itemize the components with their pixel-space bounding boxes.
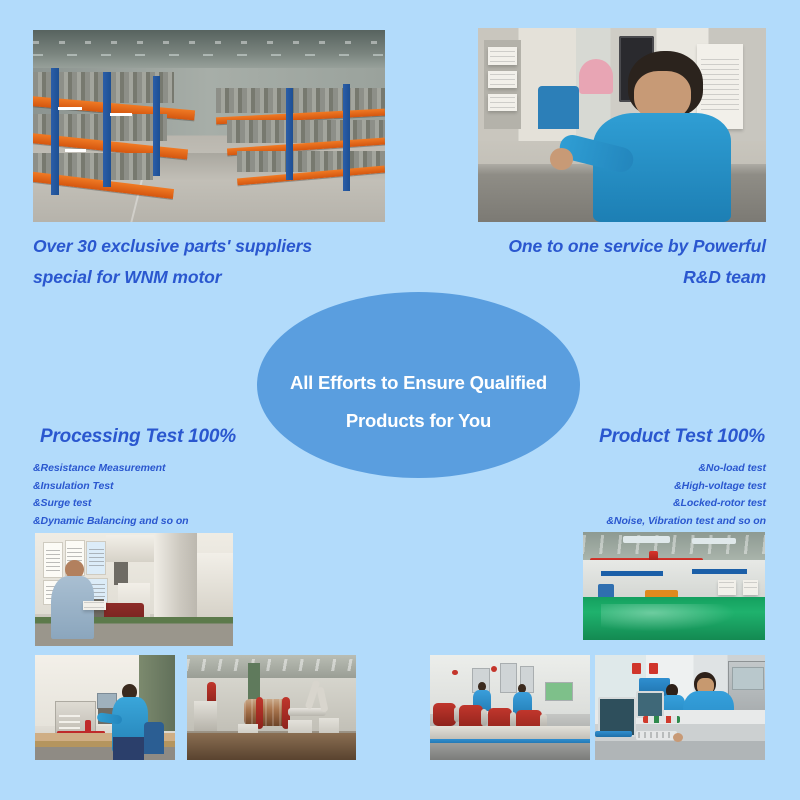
list-item: &No-load test: [606, 460, 766, 478]
roof-structure: [583, 532, 765, 560]
console-edge: [595, 731, 632, 737]
motor-under-test: [433, 703, 455, 726]
rack-post: [153, 76, 160, 176]
balancing-scene: [187, 655, 356, 760]
cmm-gantry: [106, 535, 154, 562]
list-item: &Dynamic Balancing and so on: [33, 513, 189, 531]
person-legs: [113, 737, 144, 760]
photo-engineer-at-computer: [478, 28, 766, 222]
rack-post: [286, 88, 292, 180]
floor-area: [187, 733, 356, 760]
rack-post: [51, 68, 59, 195]
roof-structure: [187, 655, 356, 678]
monitor-icon: [636, 691, 664, 718]
control-cabinet: [194, 701, 218, 730]
list-item: &Locked-rotor test: [606, 495, 766, 513]
green-bins: [545, 682, 573, 701]
wall-panel: [500, 663, 516, 692]
poster-canvas: Over 30 exclusive parts' suppliers speci…: [0, 0, 800, 800]
decoration: [579, 59, 614, 94]
office-scene: [478, 28, 766, 222]
stored-boxes: [216, 88, 385, 113]
list-item: &Insulation Test: [33, 478, 189, 496]
blue-banner: [692, 569, 747, 574]
keyboard-icon: [636, 731, 677, 740]
paper-stack: [488, 71, 517, 88]
warning-sign: [649, 663, 658, 674]
center-badge: All Efforts to Ensure Qualified Products…: [257, 292, 580, 478]
list-item: &Surge test: [33, 495, 189, 513]
warning-sign: [632, 663, 641, 674]
paper-stack: [488, 94, 517, 111]
cmm-probe: [114, 562, 128, 585]
bench-scene: [35, 655, 175, 760]
window-panel: [743, 580, 758, 595]
rack-post: [343, 84, 351, 192]
photo-green-floor-workshop: [583, 532, 765, 640]
photo-warehouse-parts-storage: [33, 30, 385, 222]
chair: [144, 722, 164, 754]
photo-resistance-test-bench: [35, 655, 175, 760]
photo-cmm-measuring-inspection: [35, 533, 233, 646]
office-chair: [538, 86, 578, 129]
processing-test-title: Processing Test 100%: [40, 426, 236, 448]
equipment-cabinet: [197, 553, 233, 616]
photo-dynamic-balancing-machine: [187, 655, 356, 760]
button-row: [643, 716, 680, 723]
product-test-title: Product Test 100%: [599, 426, 765, 448]
green-epoxy-floor: [583, 597, 765, 640]
photo-motor-test-line: [430, 655, 590, 760]
window-panel: [718, 580, 736, 595]
skylight: [692, 538, 736, 543]
notice-sheet: [43, 542, 63, 578]
cmm-scene: [35, 533, 233, 646]
caption-service: One to one service by Powerful R&D team: [420, 231, 766, 293]
paper-stack: [488, 47, 517, 64]
rack-label: [110, 113, 131, 116]
person-hand: [550, 148, 573, 169]
caption-suppliers: Over 30 exclusive parts' suppliers speci…: [33, 231, 413, 293]
skylight: [623, 536, 670, 542]
test-line-scene: [430, 655, 590, 760]
list-item: &Resistance Measurement: [33, 460, 189, 478]
paper-sheet: [83, 601, 107, 610]
rack-label: [58, 107, 83, 110]
rack-label: [65, 149, 86, 152]
list-item: &Noise, Vibration test and so on: [606, 513, 766, 531]
green-workshop-scene: [583, 532, 765, 640]
console-scene: [595, 655, 765, 760]
floor-area: [430, 743, 590, 760]
list-item: &High-voltage test: [606, 478, 766, 496]
warehouse-scene: [33, 30, 385, 222]
processing-test-list: &Resistance Measurement &Insulation Test…: [33, 460, 189, 530]
red-banner: [601, 571, 663, 576]
photo-control-console-room: [595, 655, 765, 760]
alarm-light: [452, 670, 458, 675]
rack-post: [103, 72, 111, 187]
center-badge-text: All Efforts to Ensure Qualified Products…: [290, 364, 547, 440]
notice-sheet: [86, 541, 106, 575]
ceiling-icon: [33, 30, 385, 68]
product-test-list: &No-load test &High-voltage test &Locked…: [606, 460, 766, 530]
alarm-light: [491, 666, 497, 672]
